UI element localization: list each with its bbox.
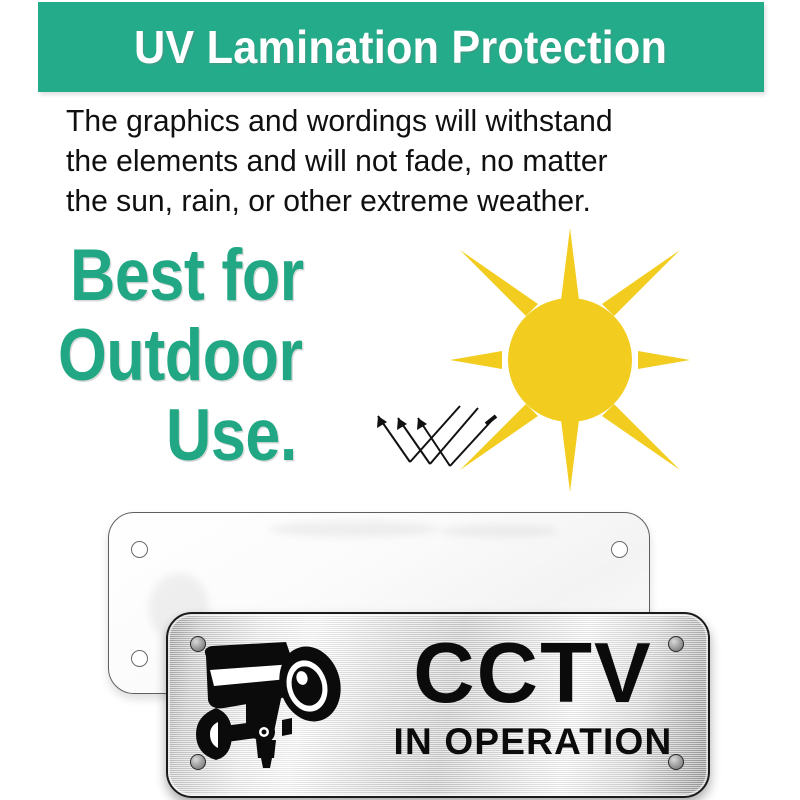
page-title: UV Lamination Protection [134, 20, 667, 74]
cctv-text-block: CCTV IN OPERATION [368, 628, 698, 764]
sun-disc [508, 298, 632, 422]
description-line-3: the sun, rain, or other extreme weather. [66, 181, 706, 221]
cctv-camera-glyph [194, 636, 359, 776]
description-line-2: the elements and will not fade, no matte… [66, 141, 706, 181]
cctv-sub-text: IN OPERATION [368, 720, 698, 764]
cctv-main-text: CCTV [368, 628, 698, 720]
reflection-arrows [368, 398, 498, 488]
tagline-block: Best for Outdoor Use. [58, 236, 358, 476]
tagline-line-3: Use. [166, 396, 331, 476]
mount-hole [131, 541, 148, 558]
mount-hole [611, 541, 628, 558]
description-paragraph: The graphics and wordings will withstand… [66, 101, 706, 221]
sign-smudge [439, 525, 559, 537]
sign-smudge [269, 521, 439, 537]
product-infographic: UV Lamination Protection The graphics an… [0, 0, 800, 800]
reflected-rays-icon [368, 398, 498, 488]
tagline-line-1: Best for [70, 236, 318, 316]
cctv-camera-icon [194, 636, 359, 776]
mount-hole [131, 650, 148, 667]
tagline-line-2: Outdoor [58, 316, 316, 396]
header-banner: UV Lamination Protection [38, 2, 764, 92]
description-line-1: The graphics and wordings will withstand [66, 101, 706, 141]
cctv-sign[interactable]: CCTV IN OPERATION [166, 612, 710, 798]
